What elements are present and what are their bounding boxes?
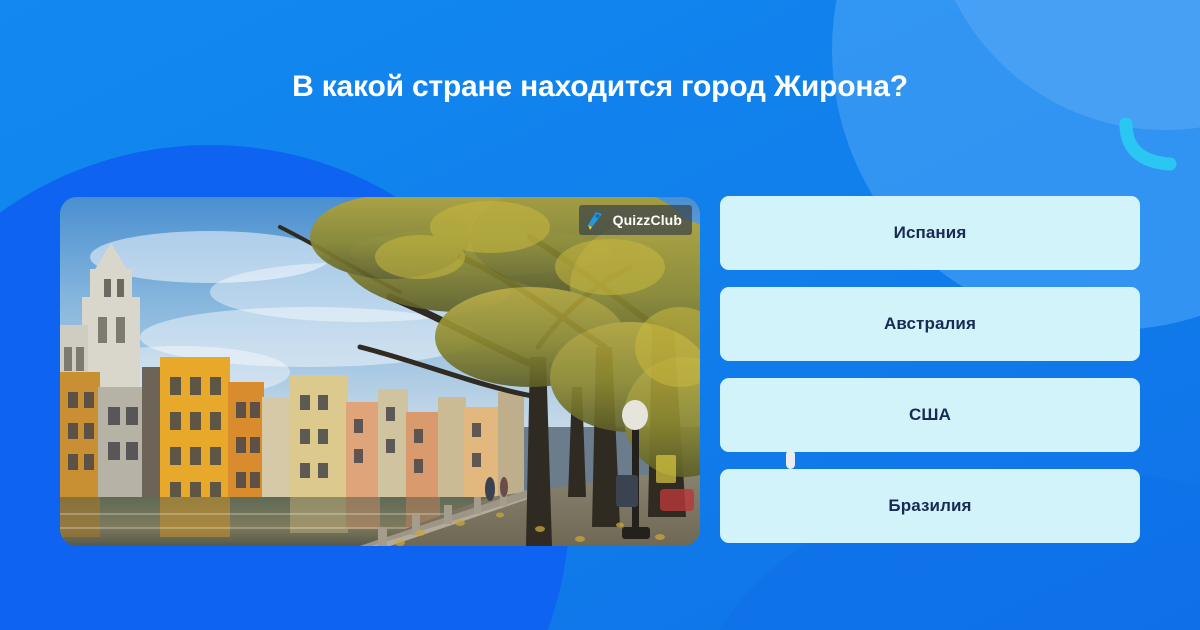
question-image: QuizzClub xyxy=(60,197,700,546)
answer-option-1[interactable]: Испания xyxy=(720,196,1140,270)
girona-photo xyxy=(60,197,700,546)
scrollbar-thumb-icon[interactable] xyxy=(786,450,795,469)
answer-label: Австралия xyxy=(884,314,976,334)
page-title: В какой стране находится город Жирона? xyxy=(0,70,1200,104)
watermark: QuizzClub xyxy=(579,205,692,235)
quizzclub-logo-icon xyxy=(583,208,607,232)
answer-label: Испания xyxy=(894,223,967,243)
watermark-brand: QuizzClub xyxy=(613,212,682,228)
answer-label: США xyxy=(909,405,951,425)
quiz-card: В какой стране находится город Жирона? xyxy=(0,0,1200,630)
answer-list: Испания Австралия США Бразилия xyxy=(720,196,1140,543)
answer-option-2[interactable]: Австралия xyxy=(720,287,1140,361)
answer-option-4[interactable]: Бразилия xyxy=(720,469,1140,543)
answer-label: Бразилия xyxy=(888,496,971,516)
cyan-arc-icon xyxy=(1118,118,1180,174)
answer-option-3[interactable]: США xyxy=(720,378,1140,452)
